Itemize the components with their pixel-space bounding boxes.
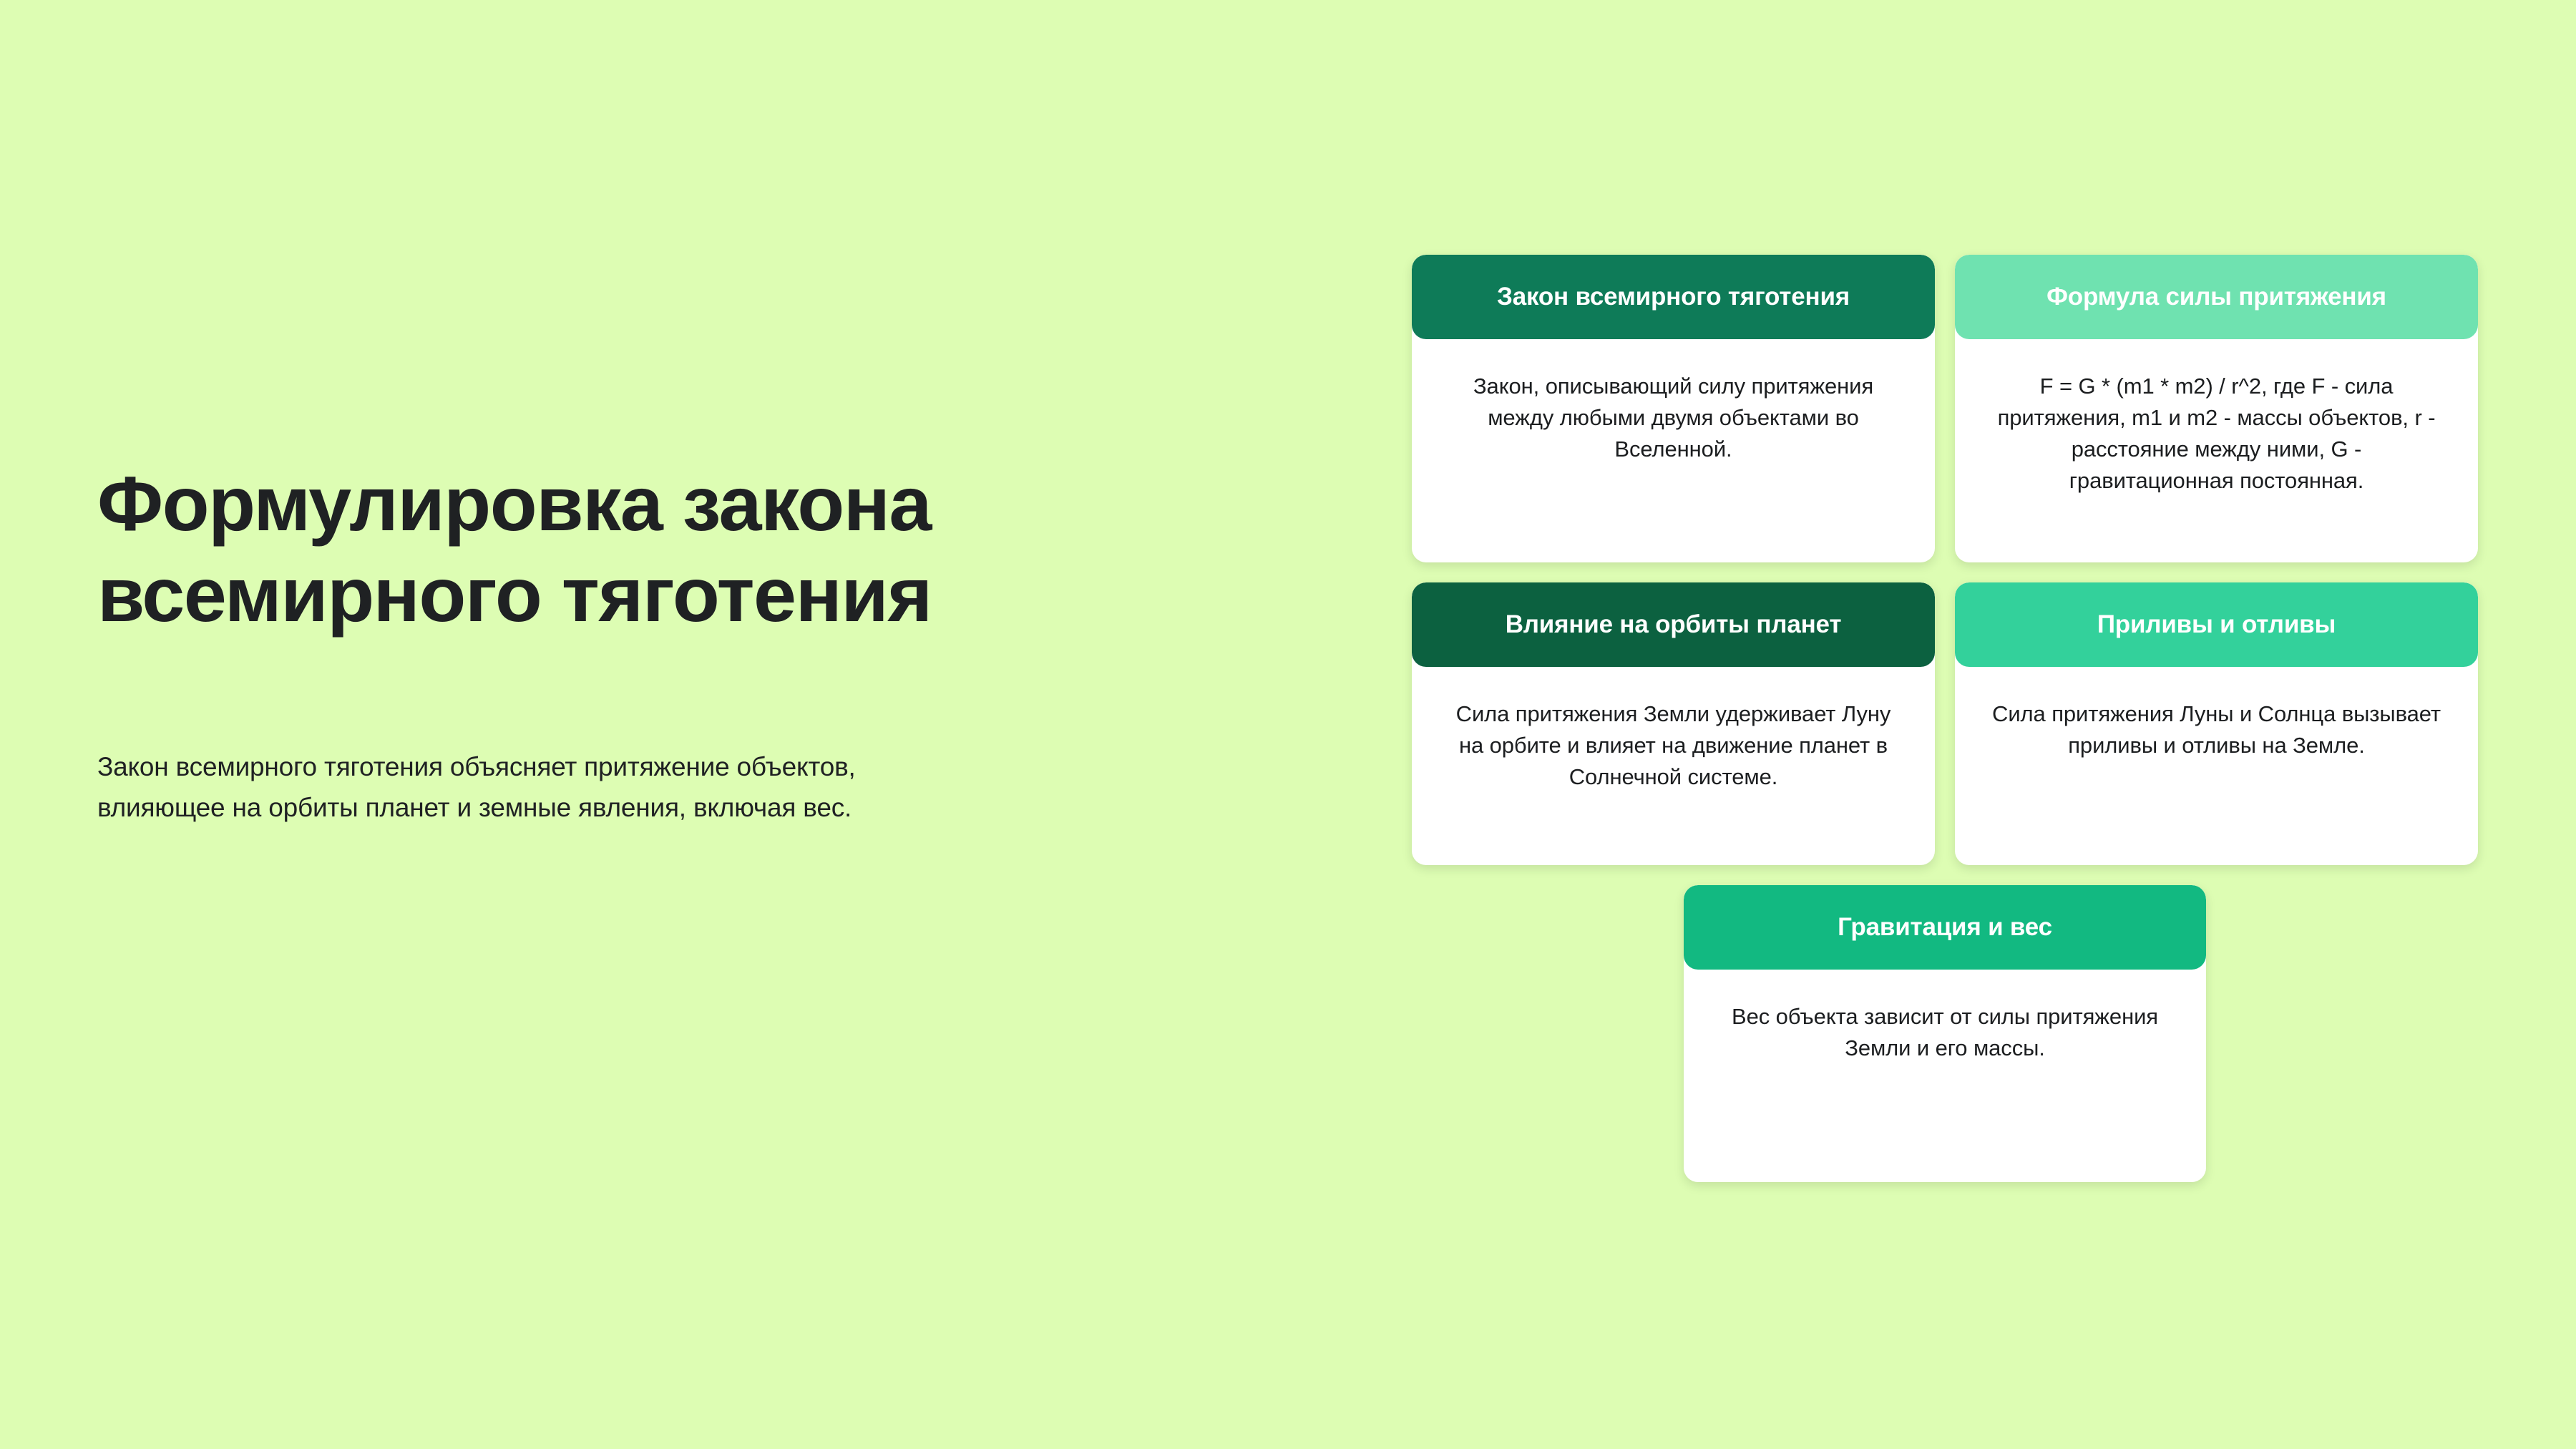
card-tides[interactable]: Приливы и отливы Сила притяжения Луны и … (1955, 582, 2478, 865)
hero-text-block: Формулировка закона всемирного тяготения… (97, 458, 1185, 829)
page-subtitle: Закон всемирного тяготения объясняет при… (97, 746, 1185, 829)
page-title: Формулировка закона всемирного тяготения (97, 458, 1185, 640)
card-body-planet-orbits: Сила притяжения Земли удерживает Луну на… (1412, 667, 1935, 865)
slide-canvas: Формулировка закона всемирного тяготения… (0, 0, 2576, 1449)
card-force-formula[interactable]: Формула силы притяжения F = G * (m1 * m2… (1955, 255, 2478, 562)
card-grid-row-1: Закон всемирного тяготения Закон, описыв… (1412, 255, 2478, 562)
card-title-force-formula: Формула силы притяжения (2046, 282, 2386, 312)
card-body-law-of-gravitation: Закон, описывающий силу притяжения между… (1412, 339, 1935, 562)
card-header-force-formula: Формула силы притяжения (1955, 255, 2478, 339)
card-gravity-and-weight[interactable]: Гравитация и вес Вес объекта зависит от … (1684, 885, 2206, 1182)
card-body-tides: Сила притяжения Луны и Солнца вызывает п… (1955, 667, 2478, 865)
card-title-gravity-and-weight: Гравитация и вес (1838, 912, 2052, 942)
card-title-planet-orbits: Влияние на орбиты планет (1506, 610, 1842, 640)
card-law-of-gravitation[interactable]: Закон всемирного тяготения Закон, описыв… (1412, 255, 1935, 562)
card-text-law-of-gravitation: Закон, описывающий силу притяжения между… (1443, 371, 1903, 465)
card-text-tides: Сила притяжения Луны и Солнца вызывает п… (1986, 698, 2446, 761)
card-title-tides: Приливы и отливы (2097, 610, 2336, 640)
card-header-gravity-and-weight: Гравитация и вес (1684, 885, 2206, 970)
card-body-gravity-and-weight: Вес объекта зависит от силы притяжения З… (1684, 970, 2206, 1182)
card-grid-row-3: Гравитация и вес Вес объекта зависит от … (1412, 885, 2478, 1182)
card-grid-row-2: Влияние на орбиты планет Сила притяжения… (1412, 582, 2478, 865)
card-planet-orbits[interactable]: Влияние на орбиты планет Сила притяжения… (1412, 582, 1935, 865)
card-title-law-of-gravitation: Закон всемирного тяготения (1497, 282, 1850, 312)
card-body-force-formula: F = G * (m1 * m2) / r^2, где F - сила пр… (1955, 339, 2478, 562)
card-text-gravity-and-weight: Вес объекта зависит от силы притяжения З… (1715, 1001, 2175, 1064)
card-header-law-of-gravitation: Закон всемирного тяготения (1412, 255, 1935, 339)
card-header-planet-orbits: Влияние на орбиты планет (1412, 582, 1935, 667)
card-grid: Закон всемирного тяготения Закон, описыв… (1412, 255, 2478, 1182)
card-header-tides: Приливы и отливы (1955, 582, 2478, 667)
card-text-force-formula: F = G * (m1 * m2) / r^2, где F - сила пр… (1986, 371, 2446, 497)
card-text-planet-orbits: Сила притяжения Земли удерживает Луну на… (1443, 698, 1903, 793)
